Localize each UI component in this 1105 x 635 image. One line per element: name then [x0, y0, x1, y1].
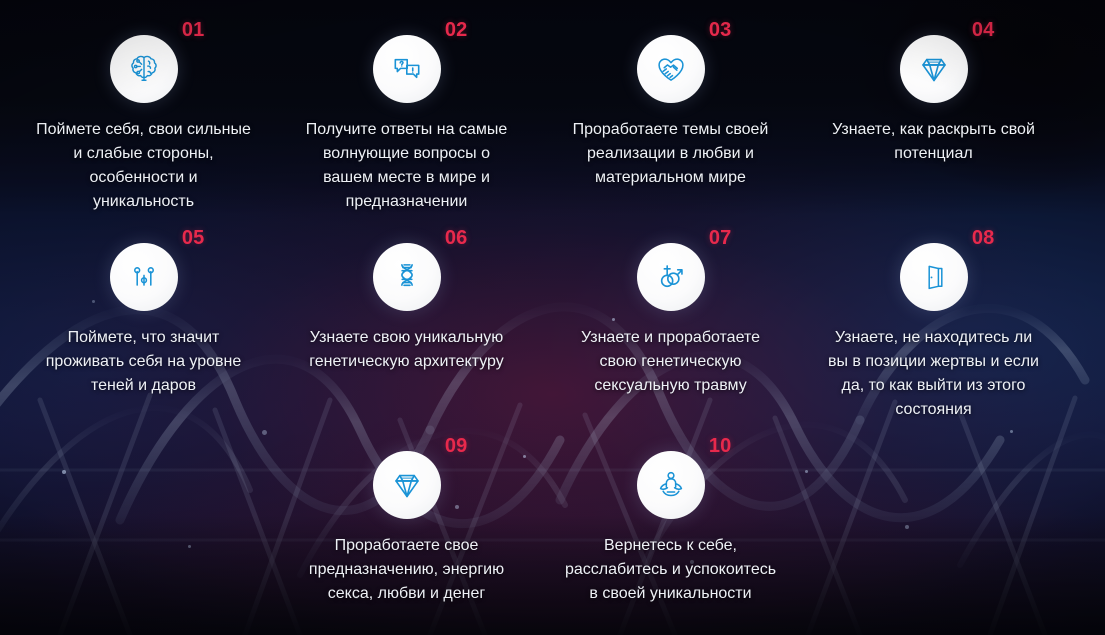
benefit-item-10[interactable]: 10 Вернетесь к себе, расслабитесь и успо…	[538, 451, 803, 606]
benefit-item-03[interactable]: 03 Проработаете темы своей реализации в …	[538, 35, 803, 190]
diamond-icon	[916, 51, 952, 87]
benefit-item-08[interactable]: 08 Узнаете, не находитесь ли вы в позици…	[801, 243, 1066, 422]
benefit-number: 10	[709, 436, 732, 456]
meditation-lotus-icon	[654, 468, 688, 502]
benefit-item-02[interactable]: 02 Получите ответы на самые волнующие во…	[274, 35, 539, 214]
diamond-icon	[389, 467, 425, 503]
benefit-badge: 06	[373, 243, 441, 311]
benefits-grid: 01 Поймете себя, свои сильные и слабые с…	[0, 0, 1105, 635]
benefit-icon-circle	[900, 35, 968, 103]
benefit-item-05[interactable]: 05 Поймете, что значит проживать себя на…	[11, 243, 276, 398]
benefit-caption: Проработаете темы своей реализации в люб…	[538, 118, 803, 190]
benefit-item-04[interactable]: 04 Узнаете, как раскрыть свой потенциал	[801, 35, 1066, 166]
benefit-badge: 03	[637, 35, 705, 103]
benefit-icon-circle	[373, 35, 441, 103]
benefit-caption: Проработаете свое предназначению, энерги…	[274, 534, 539, 606]
benefit-badge: 09	[373, 451, 441, 519]
benefits-section: 01 Поймете себя, свои сильные и слабые с…	[0, 0, 1105, 635]
benefit-caption: Узнаете свою уникальную генетическую арх…	[274, 326, 539, 374]
heart-handshake-icon	[654, 52, 688, 86]
benefit-icon-circle	[637, 35, 705, 103]
benefit-icon-circle	[110, 35, 178, 103]
benefit-caption: Поймете себя, свои сильные и слабые стор…	[11, 118, 276, 214]
benefit-badge: 02	[373, 35, 441, 103]
benefit-caption: Узнаете, не находитесь ли вы в позиции ж…	[801, 326, 1066, 422]
benefit-icon-circle	[637, 243, 705, 311]
brain-icon	[127, 52, 161, 86]
benefit-badge: 04	[900, 35, 968, 103]
benefit-item-09[interactable]: 09 Проработаете свое предназначению, эне…	[274, 451, 539, 606]
benefit-badge: 10	[637, 451, 705, 519]
benefit-item-01[interactable]: 01 Поймете себя, свои сильные и слабые с…	[11, 35, 276, 214]
benefit-number: 02	[445, 20, 468, 40]
benefit-caption: Получите ответы на самые волнующие вопро…	[274, 118, 539, 214]
chat-question-answer-icon	[390, 52, 424, 86]
benefit-icon-circle	[373, 451, 441, 519]
benefit-caption: Вернетесь к себе, расслабитесь и успокои…	[538, 534, 803, 606]
benefit-item-07[interactable]: 07 Узнаете и проработаете свою генетичес…	[538, 243, 803, 398]
benefit-badge: 08	[900, 243, 968, 311]
benefit-number: 08	[972, 228, 995, 248]
benefit-badge: 07	[637, 243, 705, 311]
benefit-item-06[interactable]: 06 Узнаете свою уникальную генетическую …	[274, 243, 539, 374]
open-door-icon	[918, 261, 950, 293]
benefit-badge: 05	[110, 243, 178, 311]
benefit-number: 05	[182, 228, 205, 248]
benefit-number: 01	[182, 20, 205, 40]
benefit-icon-circle	[373, 243, 441, 311]
benefit-number: 07	[709, 228, 732, 248]
gender-symbols-icon	[654, 260, 688, 294]
benefit-icon-circle	[110, 243, 178, 311]
dna-helix-icon	[390, 260, 424, 294]
benefit-number: 03	[709, 20, 732, 40]
benefit-badge: 01	[110, 35, 178, 103]
benefit-number: 04	[972, 20, 995, 40]
benefit-icon-circle	[900, 243, 968, 311]
benefit-caption: Узнаете, как раскрыть свой потенциал	[801, 118, 1066, 166]
benefit-caption: Поймете, что значит проживать себя на ур…	[11, 326, 276, 398]
benefit-icon-circle	[637, 451, 705, 519]
benefit-caption: Узнаете и проработаете свою генетическую…	[538, 326, 803, 398]
sliders-icon	[128, 261, 160, 293]
benefit-number: 09	[445, 436, 468, 456]
benefit-number: 06	[445, 228, 468, 248]
